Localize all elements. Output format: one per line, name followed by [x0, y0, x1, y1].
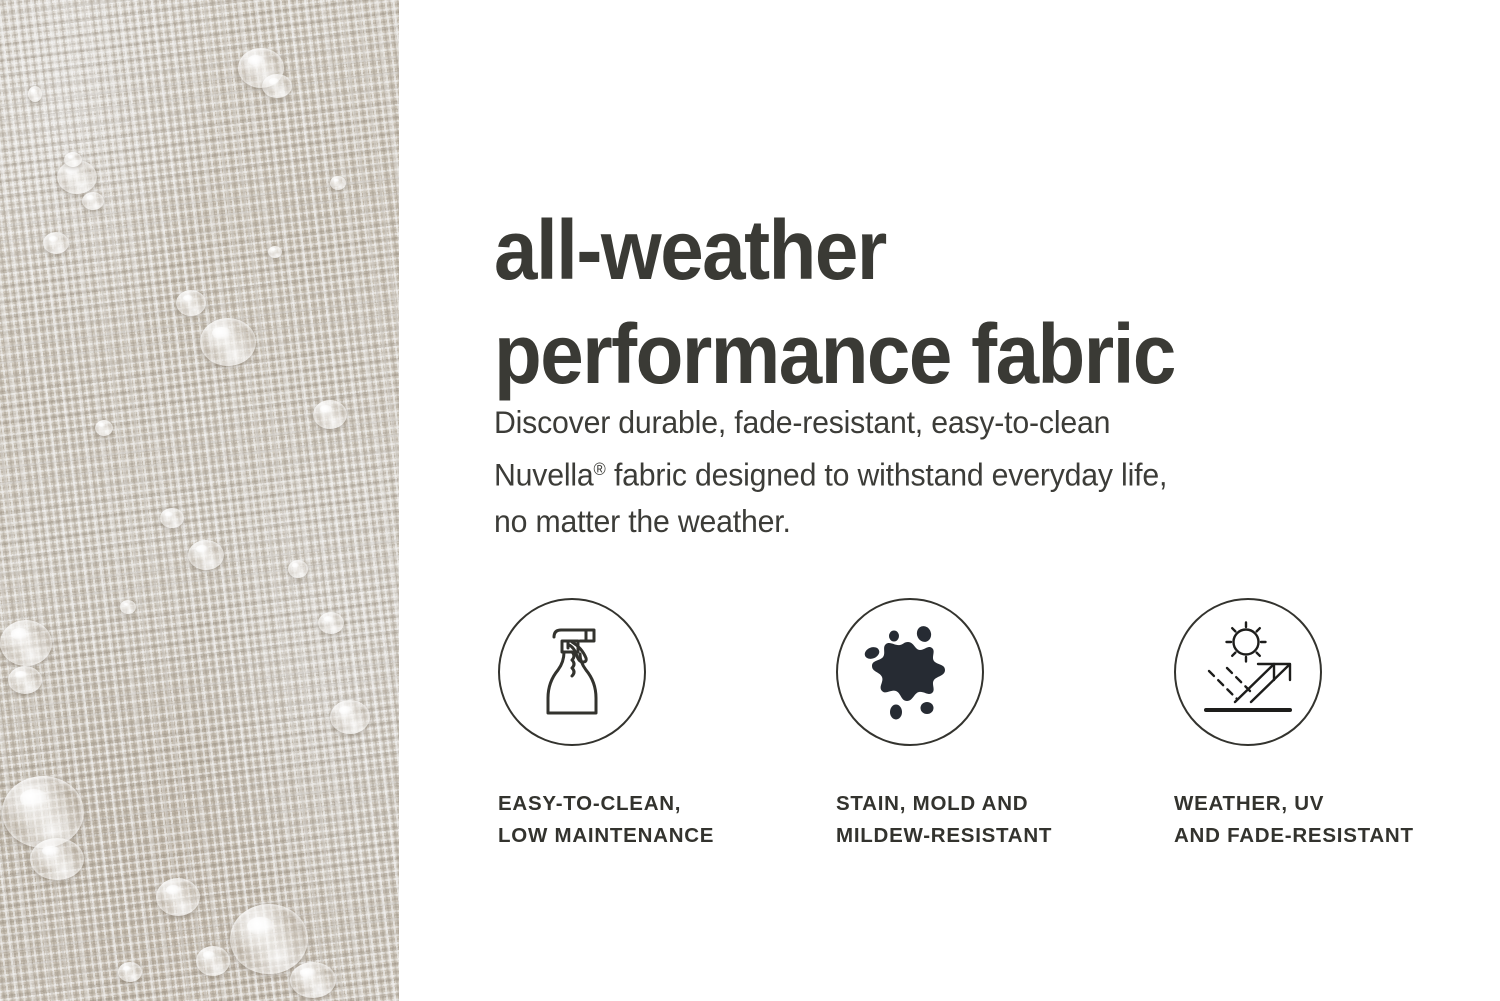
fabric-photo-panel — [0, 0, 399, 1001]
feature-caption: EASY-TO-CLEAN, LOW MAINTENANCE — [498, 788, 818, 852]
water-droplet — [188, 540, 224, 570]
water-droplet — [43, 232, 69, 254]
water-droplet — [8, 666, 42, 694]
feature-icon-circle — [836, 598, 984, 746]
feature-easy-to-clean: EASY-TO-CLEAN, LOW MAINTENANCE — [498, 598, 818, 852]
water-droplet — [200, 318, 256, 366]
water-droplet — [330, 176, 346, 190]
stain-splat-icon — [858, 620, 962, 724]
water-droplet — [176, 290, 206, 316]
sun-uv-reflect-icon — [1194, 618, 1302, 726]
water-droplet — [268, 246, 282, 258]
water-droplet — [262, 74, 292, 98]
water-droplet — [318, 612, 344, 634]
water-droplet — [95, 420, 113, 436]
all-weather-performance-fabric-banner: all-weather performance fabric Discover … — [0, 0, 1500, 1001]
water-droplet — [118, 962, 142, 982]
spray-bottle-icon — [520, 620, 624, 724]
feature-icon-circle — [1174, 598, 1322, 746]
water-droplet — [290, 962, 336, 998]
water-droplet — [0, 620, 52, 666]
feature-uv-fade-resistant: WEATHER, UV AND FADE-RESISTANT — [1174, 598, 1494, 852]
water-droplet — [2, 776, 84, 848]
water-droplet — [30, 838, 84, 880]
water-droplet — [64, 152, 82, 167]
feature-stain-resistant: STAIN, MOLD AND MILDEW-RESISTANT — [836, 598, 1156, 852]
water-droplet — [313, 400, 347, 429]
water-droplet — [230, 904, 308, 974]
water-droplet — [330, 700, 370, 734]
water-droplet — [120, 600, 136, 614]
water-droplet — [196, 946, 230, 976]
water-droplet — [82, 192, 104, 210]
water-droplet — [288, 560, 308, 578]
water-droplet — [156, 878, 200, 916]
feature-caption: STAIN, MOLD AND MILDEW-RESISTANT — [836, 788, 1156, 852]
water-droplet — [160, 508, 184, 528]
feature-row: EASY-TO-CLEAN, LOW MAINTENANCE — [399, 0, 1500, 1001]
feature-caption: WEATHER, UV AND FADE-RESISTANT — [1174, 788, 1494, 852]
content-column: all-weather performance fabric Discover … — [399, 0, 1500, 1001]
feature-icon-circle — [498, 598, 646, 746]
water-droplet — [28, 86, 42, 102]
